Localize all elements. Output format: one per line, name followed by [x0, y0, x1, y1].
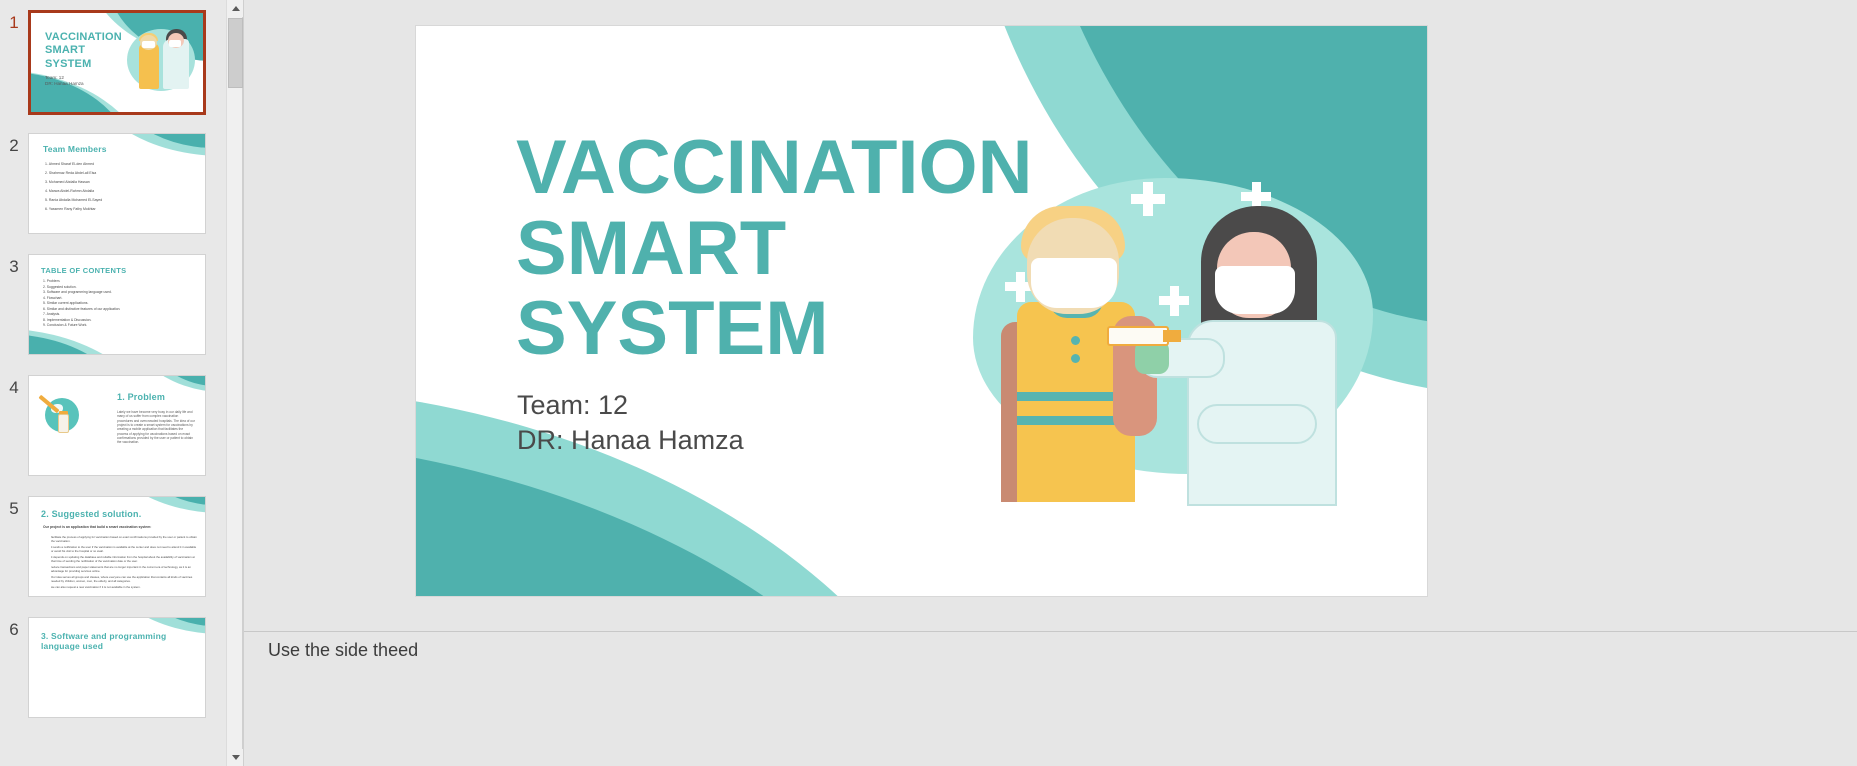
- powerpoint-editor-window: 1 VACCINATION SMART SYSTEM Team: 12 DR: …: [0, 0, 1857, 766]
- plus-icon: [1241, 192, 1271, 201]
- nurse-lower-arm: [1197, 404, 1317, 444]
- plus-icon: [1159, 296, 1189, 305]
- thumbnail-frame-1[interactable]: VACCINATION SMART SYSTEM Team: 12 DR: Ha…: [28, 10, 206, 115]
- thumbnail-number-6: 6: [0, 617, 28, 638]
- thumbnail-frame-4[interactable]: 1. Problem Lately we have become very bu…: [28, 375, 206, 476]
- thumbnail-scrollbar[interactable]: [226, 0, 243, 766]
- chevron-up-icon: [232, 6, 240, 11]
- thumbnail-number-3: 3: [0, 254, 28, 275]
- notes-text[interactable]: Use the side theed: [268, 638, 418, 663]
- thumbnail-frame-3[interactable]: TABLE OF CONTENTS 1. Problem. 2. Suggest…: [28, 254, 206, 355]
- thumbnail-title-4: 1. Problem: [117, 392, 165, 403]
- nurse-face-mask: [1215, 266, 1295, 314]
- thumbnail-number-4: 4: [0, 375, 28, 396]
- thumbnail-lead-5: Our project is an application that build…: [43, 525, 193, 530]
- thumbnail-slide-6[interactable]: 6 3. Software and programming language u…: [0, 617, 226, 718]
- thumbnail-illustration-1: [125, 25, 197, 99]
- thumbnail-number-5: 5: [0, 496, 28, 517]
- thumbnail-title-1: VACCINATION SMART SYSTEM: [45, 31, 117, 71]
- thumbnail-list-3: 1. Problem. 2. Suggested solution. 3. So…: [43, 279, 120, 329]
- thumbnail-title-6: 3. Software and programming language use…: [41, 631, 205, 652]
- thumbnail-body-4: Lately we have become very busy in our d…: [117, 410, 195, 445]
- boy-button: [1071, 336, 1080, 345]
- watermark-arabic: مستقل: [837, 504, 1007, 548]
- thumbnail-subtitle-1: Team: 12 DR: Hanaa Hamza: [45, 75, 84, 87]
- scroll-down-button[interactable]: [227, 749, 244, 766]
- thumbnail-frame-2[interactable]: Team Members 1. Ahmed Sharaf El-den Ahme…: [28, 133, 206, 234]
- scrollbar-thumb[interactable]: [228, 18, 243, 88]
- slide-subtitle[interactable]: Team: 12 DR: Hanaa Hamza: [517, 388, 744, 457]
- plus-icon: [1131, 194, 1165, 204]
- thumbnail-title-2: Team Members: [43, 144, 107, 154]
- thumbnail-slide-2[interactable]: 2 Team Members 1. Ahmed Sharaf El-den Ah…: [0, 133, 226, 234]
- syringe-icon: [1107, 326, 1169, 346]
- thumbnail-number-2: 2: [0, 133, 28, 154]
- syringe-plunger: [1163, 330, 1181, 342]
- slide-title[interactable]: VACCINATION SMART SYSTEM: [516, 128, 1046, 370]
- current-slide-canvas[interactable]: VACCINATION SMART SYSTEM Team: 12 DR: Ha…: [415, 25, 1428, 597]
- thumbnail-title-3: TABLE OF CONTENTS: [41, 266, 126, 275]
- boy-button: [1071, 354, 1080, 363]
- thumbnail-slide-5[interactable]: 5 2. Suggested solution. Our project is …: [0, 496, 226, 597]
- thumbnail-frame-5[interactable]: 2. Suggested solution. Our project is an…: [28, 496, 206, 597]
- scroll-up-button[interactable]: [227, 0, 244, 17]
- thumbnail-number-1: 1: [0, 10, 28, 31]
- thumbnail-list-2: 1. Ahmed Sharaf El-den Ahmed 2. Shahenaz…: [45, 160, 102, 215]
- slide-thumbnail-panel[interactable]: 1 VACCINATION SMART SYSTEM Team: 12 DR: …: [0, 0, 226, 766]
- thumbnail-frame-6[interactable]: 3. Software and programming language use…: [28, 617, 206, 718]
- watermark: مستقل mostaql.com: [837, 504, 1007, 586]
- thumbnail-list-5: facilitate the process of applying for v…: [51, 535, 199, 590]
- notes-pane[interactable]: Use the side theed: [244, 632, 1857, 766]
- chevron-down-icon: [232, 755, 240, 760]
- watermark-latin: mostaql.com: [837, 548, 1007, 586]
- thumbnail-slide-1[interactable]: 1 VACCINATION SMART SYSTEM Team: 12 DR: …: [0, 10, 226, 115]
- thumbnail-slide-4[interactable]: 4 1. Problem Lately we have become very …: [0, 375, 226, 476]
- thumbnail-title-5: 2. Suggested solution.: [41, 509, 141, 520]
- vaccine-vial-icon: [58, 414, 69, 433]
- thumbnail-slide-3[interactable]: 3 TABLE OF CONTENTS 1. Problem. 2. Sugge…: [0, 254, 226, 355]
